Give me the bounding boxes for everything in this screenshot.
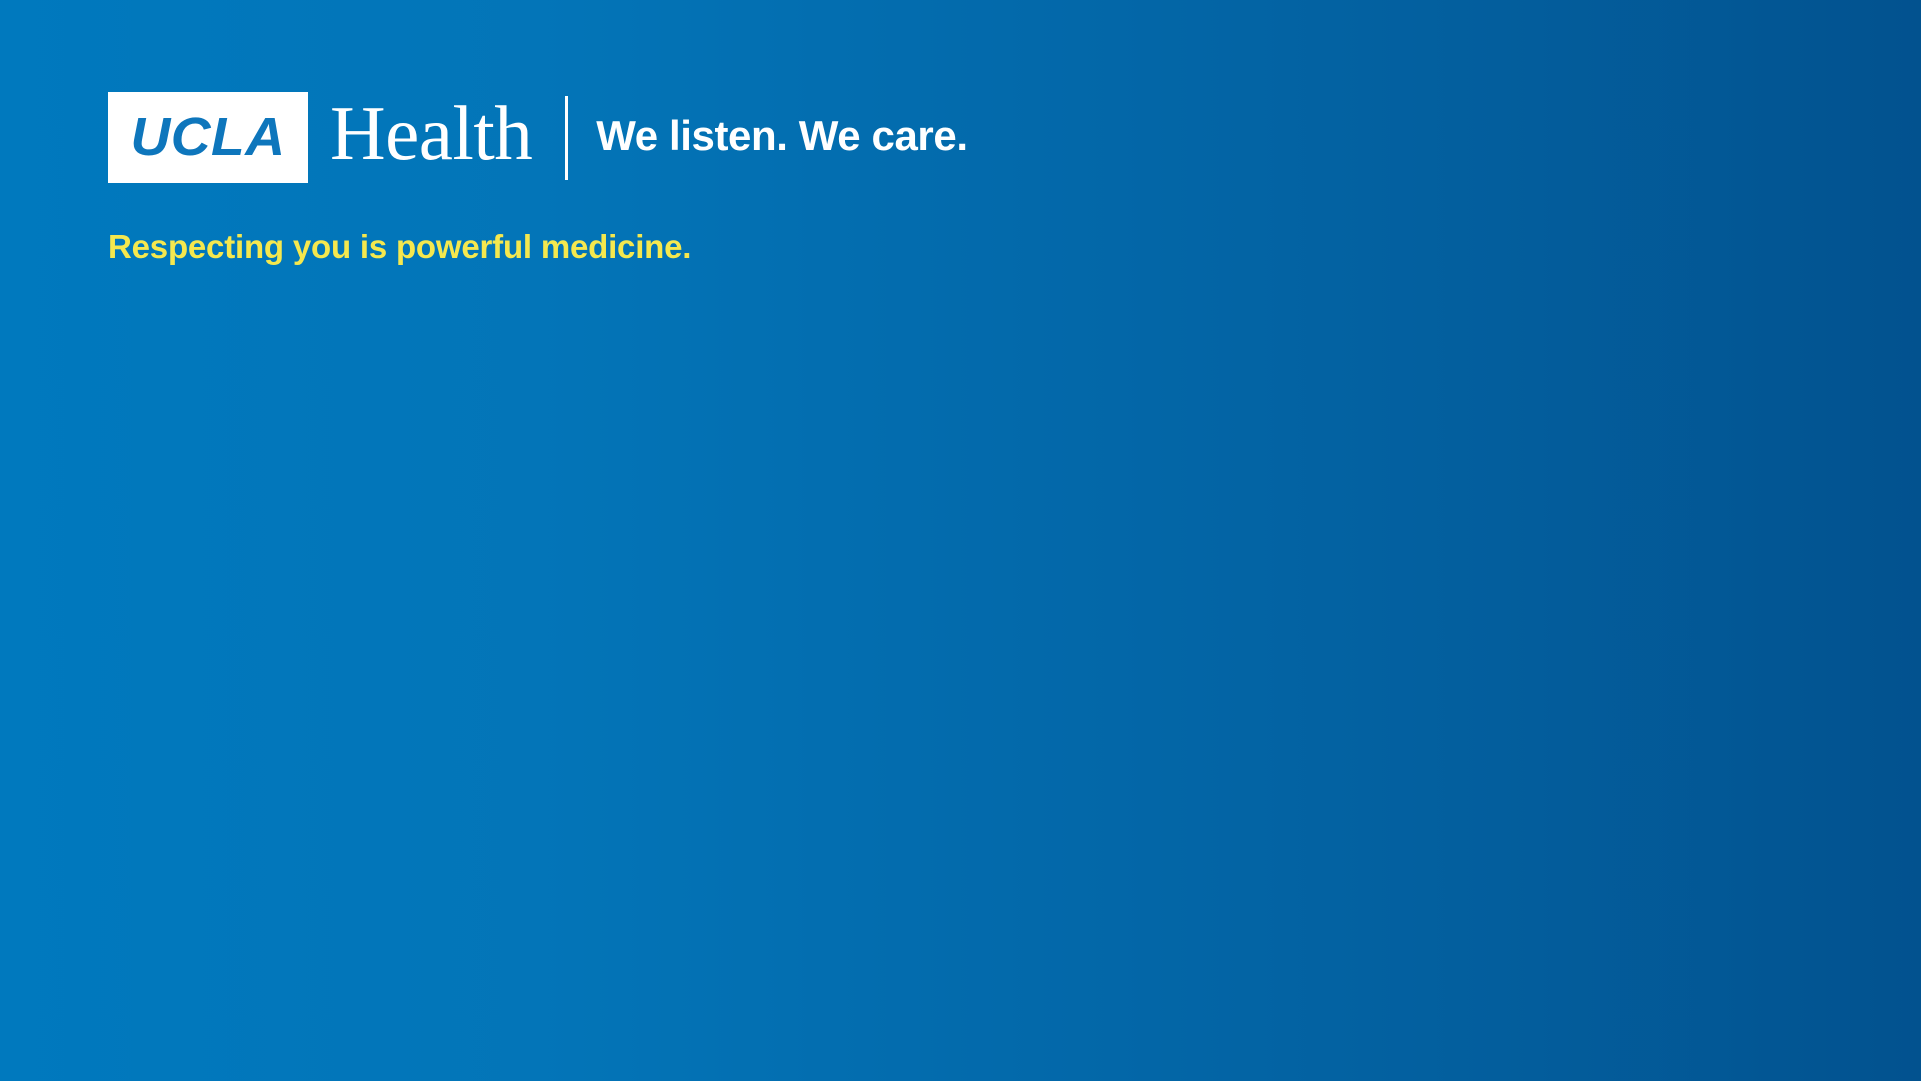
lockup-divider-rule	[565, 96, 568, 180]
slide-canvas: UCLA Health We listen. We care. Respecti…	[0, 0, 1921, 1081]
health-wordmark-text: Health	[330, 95, 532, 180]
ucla-logo-box: UCLA	[108, 92, 308, 183]
ucla-health-logo-lockup: UCLA Health We listen. We care.	[108, 92, 1408, 183]
brand-tagline-text: We listen. We care.	[596, 115, 967, 161]
brand-lockup-block: UCLA Health We listen. We care. Respecti…	[108, 92, 1408, 263]
ucla-wordmark-text: UCLA	[130, 110, 285, 166]
brand-sub-tagline-text: Respecting you is powerful medicine.	[108, 230, 1408, 263]
slide-content-area	[0, 300, 1921, 1081]
